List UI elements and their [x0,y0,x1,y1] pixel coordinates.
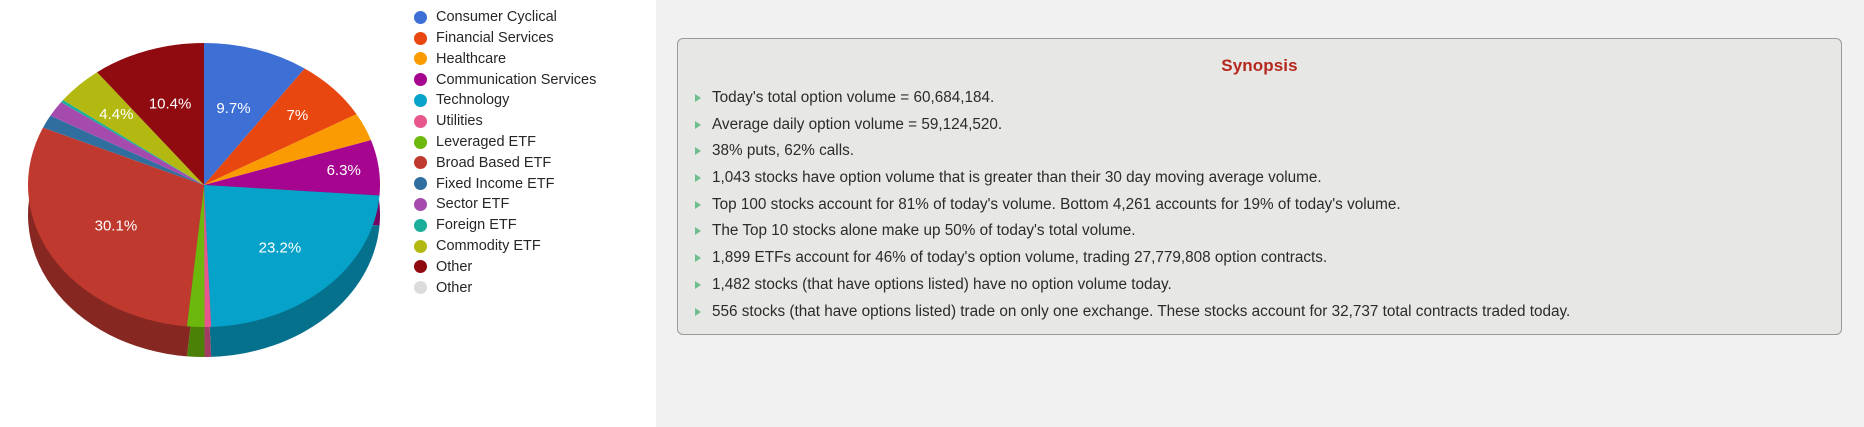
legend-swatch-icon [414,240,427,253]
legend-swatch-icon [414,219,427,232]
synopsis-item-text: Today's total option volume = 60,684,184… [712,87,994,108]
synopsis-list: Today's total option volume = 60,684,184… [678,87,1841,327]
legend-swatch-icon [414,94,427,107]
bullet-triangle-icon [695,281,701,289]
legend-item-label: Consumer Cyclical [436,10,557,25]
synopsis-item: Top 100 stocks account for 81% of today'… [678,194,1841,221]
legend-swatch-icon [414,73,427,86]
synopsis-item: 556 stocks (that have options listed) tr… [678,301,1841,328]
legend-swatch-icon [414,115,427,128]
legend-item[interactable]: Other [414,257,654,278]
synopsis-item: 1,043 stocks have option volume that is … [678,167,1841,194]
pie-slice-label: 23.2% [259,239,302,256]
bullet-triangle-icon [695,121,701,129]
legend-item[interactable]: Healthcare [414,49,654,70]
synopsis-item: Today's total option volume = 60,684,184… [678,87,1841,114]
legend-item-label: Leveraged ETF [436,135,536,150]
pie-slice-label: 9.7% [216,100,250,117]
legend-item[interactable]: Financial Services [414,28,654,49]
legend-item[interactable]: Commodity ETF [414,236,654,257]
synopsis-item-text: 1,899 ETFs account for 46% of today's op… [712,247,1327,268]
legend-swatch-icon [414,198,427,211]
legend-swatch-icon [414,177,427,190]
legend-item[interactable]: Utilities [414,111,654,132]
option-volume-summary-page: 9.7%7%6.3%23.2%30.1%4.4%10.4% Consumer C… [0,0,1864,427]
pie-chart-svg: 9.7%7%6.3%23.2%30.1%4.4%10.4% [8,10,398,370]
pie-slice-label: 6.3% [327,162,361,179]
synopsis-item: 1,482 stocks (that have options listed) … [678,274,1841,301]
legend-item[interactable]: Technology [414,90,654,111]
legend-item-label: Other [436,281,472,296]
legend-item[interactable]: Sector ETF [414,194,654,215]
bullet-triangle-icon [695,308,701,316]
legend-swatch-icon [414,136,427,149]
bullet-triangle-icon [695,201,701,209]
legend-item-label: Sector ETF [436,197,509,212]
legend-item-label: Healthcare [436,52,506,67]
bullet-triangle-icon [695,174,701,182]
legend-item-label: Fixed Income ETF [436,177,554,192]
pie-slice-label: 10.4% [149,95,192,112]
sector-breakdown-chart-panel: 9.7%7%6.3%23.2%30.1%4.4%10.4% Consumer C… [0,0,655,427]
legend-item-label: Broad Based ETF [436,156,551,171]
legend-item-label: Financial Services [436,31,554,46]
bullet-triangle-icon [695,227,701,235]
pie-slice-label: 7% [287,107,309,124]
pie-slice-label: 4.4% [99,106,133,123]
legend-item[interactable]: Foreign ETF [414,215,654,236]
legend-item[interactable]: Communication Services [414,69,654,90]
legend-item-label: Foreign ETF [436,218,517,233]
synopsis-item: 38% puts, 62% calls. [678,140,1841,167]
legend-item[interactable]: Consumer Cyclical [414,7,654,28]
synopsis-panel: Synopsis Today's total option volume = 6… [656,0,1864,427]
legend-swatch-icon [414,32,427,45]
synopsis-item-text: 1,482 stocks (that have options listed) … [712,274,1172,295]
synopsis-item-text: Top 100 stocks account for 81% of today'… [712,194,1401,215]
synopsis-title: Synopsis [678,56,1841,76]
synopsis-item: 1,899 ETFs account for 46% of today's op… [678,247,1841,274]
legend-item[interactable]: Fixed Income ETF [414,173,654,194]
bullet-triangle-icon [695,147,701,155]
synopsis-item-text: 1,043 stocks have option volume that is … [712,167,1322,188]
chart-legend: Consumer CyclicalFinancial ServicesHealt… [414,7,654,298]
synopsis-item: The Top 10 stocks alone make up 50% of t… [678,220,1841,247]
legend-item-label: Other [436,260,472,275]
legend-item-label: Utilities [436,114,483,129]
pie-slices [28,43,380,327]
synopsis-box: Synopsis Today's total option volume = 6… [677,38,1842,335]
legend-item-label: Communication Services [436,73,596,88]
legend-item[interactable]: Other [414,277,654,298]
legend-swatch-icon [414,281,427,294]
synopsis-item-text: 38% puts, 62% calls. [712,140,854,161]
legend-item-label: Technology [436,93,509,108]
legend-swatch-icon [414,52,427,65]
legend-item[interactable]: Leveraged ETF [414,132,654,153]
synopsis-item: Average daily option volume = 59,124,520… [678,114,1841,141]
bullet-triangle-icon [695,94,701,102]
bullet-triangle-icon [695,254,701,262]
synopsis-item-text: 556 stocks (that have options listed) tr… [712,301,1570,322]
legend-item[interactable]: Broad Based ETF [414,153,654,174]
pie-chart: 9.7%7%6.3%23.2%30.1%4.4%10.4% [8,10,398,370]
legend-swatch-icon [414,260,427,273]
legend-swatch-icon [414,11,427,24]
legend-swatch-icon [414,156,427,169]
synopsis-item-text: The Top 10 stocks alone make up 50% of t… [712,220,1136,241]
synopsis-item-text: Average daily option volume = 59,124,520… [712,114,1002,135]
legend-item-label: Commodity ETF [436,239,541,254]
pie-slice-label: 30.1% [95,218,138,235]
